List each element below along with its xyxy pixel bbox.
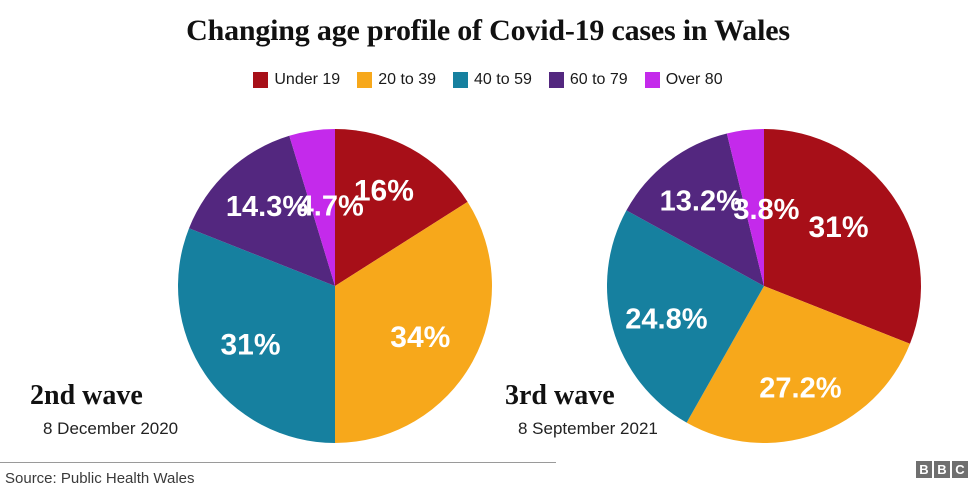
- legend-swatch-icon: [645, 72, 660, 88]
- wave-caption-right: 3rd wave 8 September 2021: [505, 381, 658, 439]
- pie-slice-label: 3.8%: [733, 194, 799, 226]
- pie-slice-label: 14.3%: [226, 191, 308, 223]
- legend-label: Under 19: [274, 72, 340, 88]
- legend-label: 60 to 79: [570, 72, 628, 88]
- pie-chart-2nd-wave: 16%34%31%14.3%4.7%: [178, 129, 492, 443]
- wave-name-right: 3rd wave: [505, 381, 658, 410]
- wave-name-left: 2nd wave: [30, 381, 178, 410]
- legend-item: 60 to 79: [549, 72, 628, 88]
- bbc-logo-letter: B: [916, 461, 932, 478]
- wave-date-left: 8 December 2020: [43, 419, 178, 439]
- page-title: Changing age profile of Covid-19 cases i…: [0, 14, 976, 48]
- footer-divider: [0, 462, 556, 463]
- legend-label: 40 to 59: [474, 72, 532, 88]
- legend-swatch-icon: [453, 72, 468, 88]
- pie-slice-label: 24.8%: [625, 303, 707, 335]
- bbc-logo-letter: B: [934, 461, 950, 478]
- legend-swatch-icon: [357, 72, 372, 88]
- bbc-logo: BBC: [916, 461, 968, 478]
- legend-item: 20 to 39: [357, 72, 436, 88]
- pie-slice-label: 31%: [220, 329, 280, 362]
- legend-item: Over 80: [645, 72, 723, 88]
- legend-swatch-icon: [253, 72, 268, 88]
- pie-slice-label: 4.7%: [298, 190, 364, 222]
- wave-date-right: 8 September 2021: [518, 419, 658, 439]
- legend-label: Over 80: [666, 72, 723, 88]
- legend-label: 20 to 39: [378, 72, 436, 88]
- pie-svg: 16%34%31%14.3%4.7%: [178, 129, 492, 443]
- legend-item: Under 19: [253, 72, 340, 88]
- source-attribution: Source: Public Health Wales: [5, 470, 195, 487]
- legend-swatch-icon: [549, 72, 564, 88]
- wave-caption-left: 2nd wave 8 December 2020: [30, 381, 178, 439]
- pie-slice-label: 31%: [808, 211, 868, 244]
- pie-slice-label: 13.2%: [660, 185, 742, 217]
- chart-legend: Under 1920 to 3940 to 5960 to 79Over 80: [0, 72, 976, 88]
- pie-slice-label: 34%: [390, 321, 450, 354]
- bbc-logo-letter: C: [952, 461, 968, 478]
- legend-item: 40 to 59: [453, 72, 532, 88]
- pie-slice-label: 27.2%: [759, 372, 841, 404]
